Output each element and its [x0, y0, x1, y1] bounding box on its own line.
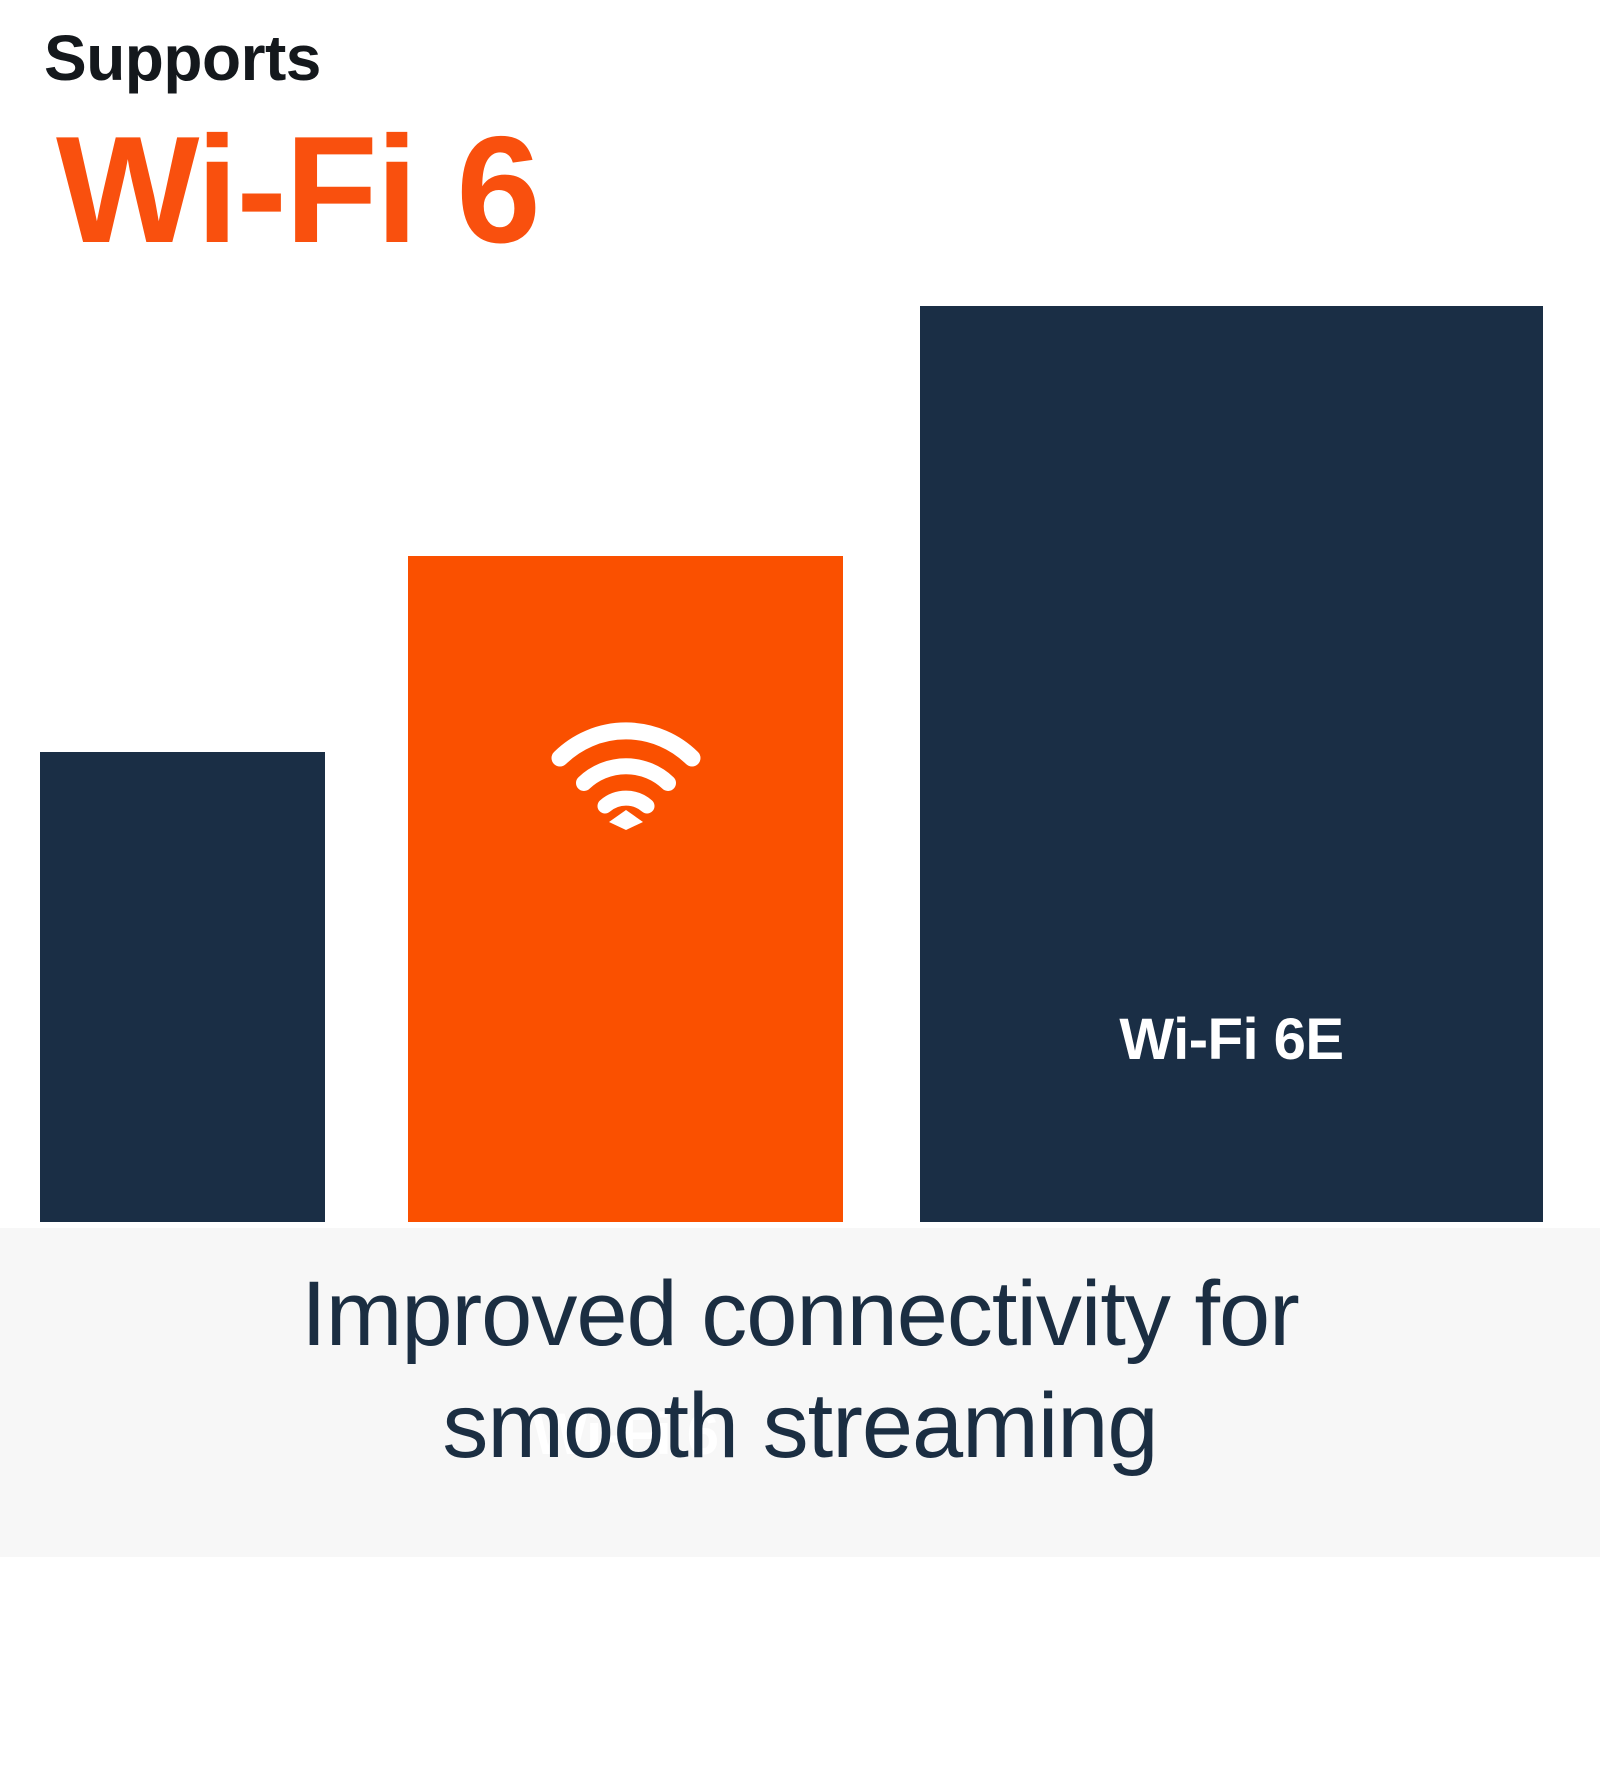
caption-line-1: Improved connectivity for [0, 1258, 1600, 1370]
infographic-canvas: Supports Wi-Fi 6 Wi-Fi 5 Wi-Fi 6 Wi-Fi 6… [0, 0, 1600, 1600]
wifi-signal-icon [551, 720, 701, 830]
bar-label-wifi-6e: Wi-Fi 6E [920, 1006, 1543, 1073]
page-title: Wi-Fi 6 [56, 113, 944, 268]
bar-wifi-5: Wi-Fi 5 [40, 752, 325, 1222]
caption-line-2: smooth streaming [0, 1370, 1600, 1482]
headline-block: Supports Wi-Fi 6 [44, 26, 944, 268]
headline-kicker: Supports [44, 26, 944, 91]
bar-wifi-6: Wi-Fi 6 [408, 556, 843, 1222]
bar-wifi-6e: Wi-Fi 6E [920, 306, 1543, 1222]
caption-block: Improved connectivity for smooth streami… [0, 1258, 1600, 1482]
bar-label-wifi-5: Wi-Fi 5 [40, 1715, 325, 1782]
